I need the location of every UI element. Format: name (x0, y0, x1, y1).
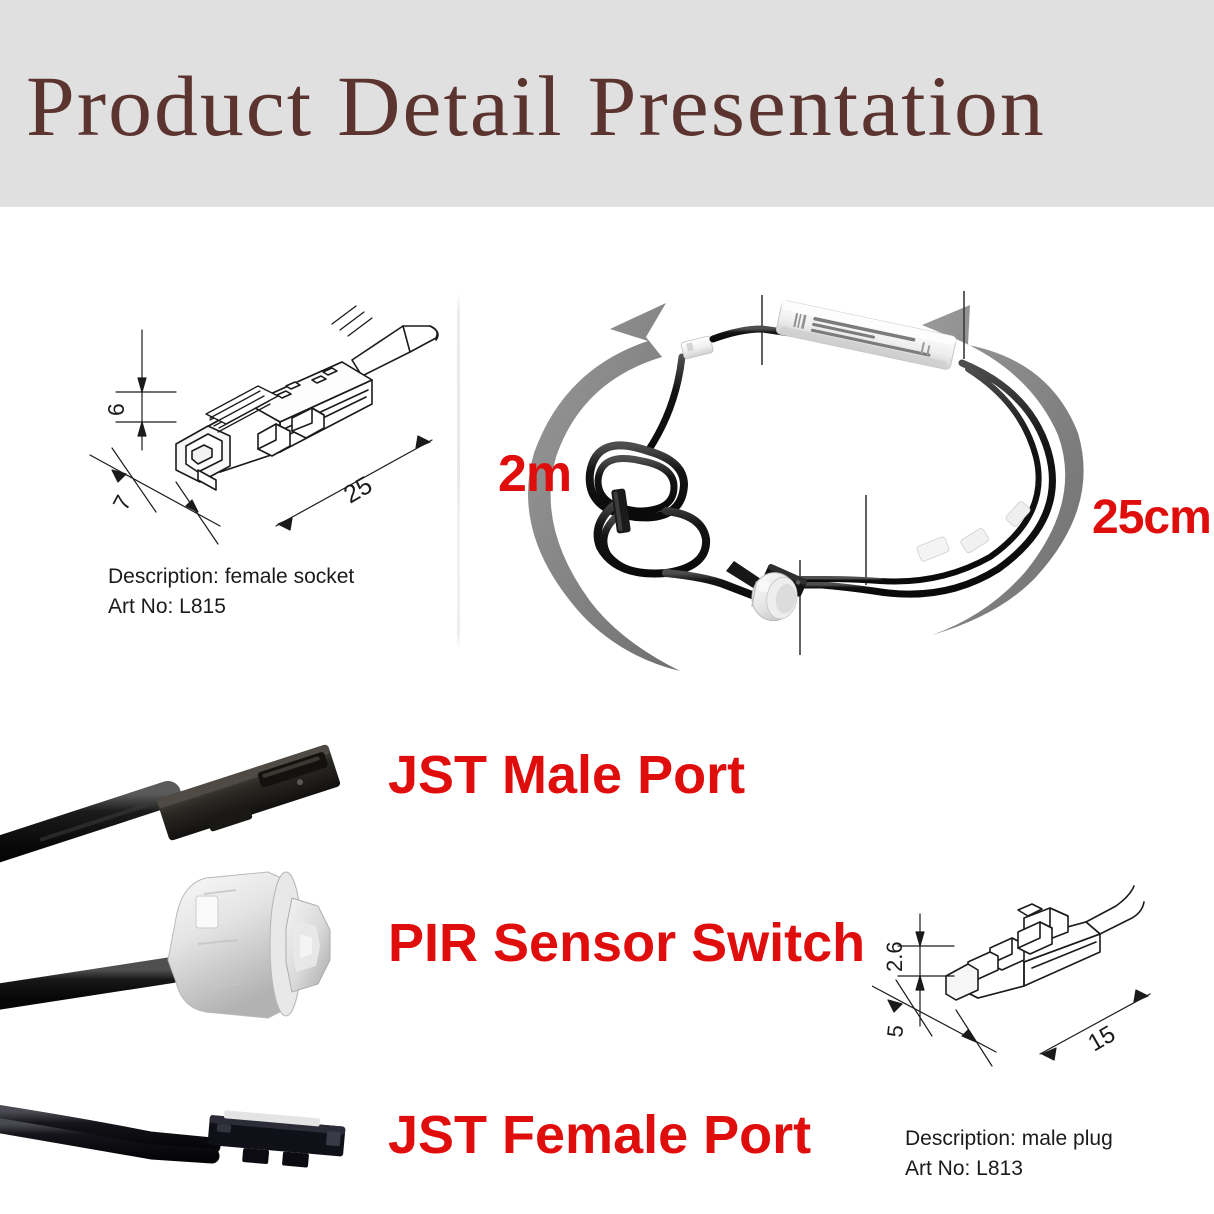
callout-label-jst-female-port: JST Female Port (388, 1104, 811, 1166)
sensor-barrel (168, 872, 330, 1018)
male-plug-description: Description: male plug Art No: L813 (905, 1124, 1113, 1184)
callout-label-pir-sensor-switch: PIR Sensor Switch (388, 912, 865, 974)
female-connector-housing (206, 1109, 346, 1171)
pir-sensor-cable-photo (470, 285, 1214, 675)
jst-male-connector-photo (0, 744, 400, 874)
dimension-label-7: 7 (107, 491, 136, 515)
male-connector-housing (156, 744, 342, 845)
dimension-label-6: 6 (103, 403, 129, 416)
dimension-label-5: 5 (882, 1024, 908, 1039)
dimension-label-2-6: 2.6 (882, 941, 907, 972)
male-plug-description-line: Description: male plug (905, 1124, 1113, 1154)
sensor-lens (286, 898, 330, 992)
product-detail-page: Product Detail Presentation (0, 0, 1214, 1214)
pir-sensor-head-photo (0, 862, 400, 1062)
inline-connector (681, 336, 714, 360)
output-leads (788, 363, 1052, 594)
pir-controller-module (776, 300, 957, 370)
male-cable (0, 794, 168, 852)
female-socket-technical-drawing: 6 7 25 (80, 300, 460, 560)
callout-label-jst-male-port: JST Male Port (388, 744, 745, 806)
lead-length-label-25cm: 25cm (1092, 490, 1211, 545)
cable-length-label-2m: 2m (498, 444, 571, 504)
dimension-label-25: 25 (339, 471, 377, 509)
jst-female-connector-photo (0, 1090, 400, 1214)
page-title: Product Detail Presentation (26, 58, 1214, 154)
header-banner: Product Detail Presentation (0, 0, 1214, 207)
dimension-6 (116, 330, 176, 450)
female-socket-description: Description: female socket Art No: L815 (108, 562, 354, 622)
shine-marks (332, 306, 372, 336)
female-socket-description-line: Description: female socket (108, 562, 354, 592)
cable-tie (611, 488, 631, 534)
coiled-cable (590, 357, 752, 595)
sensor-cable (0, 970, 172, 998)
male-plug-technical-drawing: 2.6 5 15 (872, 880, 1214, 1110)
dimension-label-15: 15 (1084, 1020, 1121, 1057)
female-socket-art-no: Art No: L815 (108, 592, 354, 622)
male-plug-art-no: Art No: L813 (905, 1154, 1113, 1184)
